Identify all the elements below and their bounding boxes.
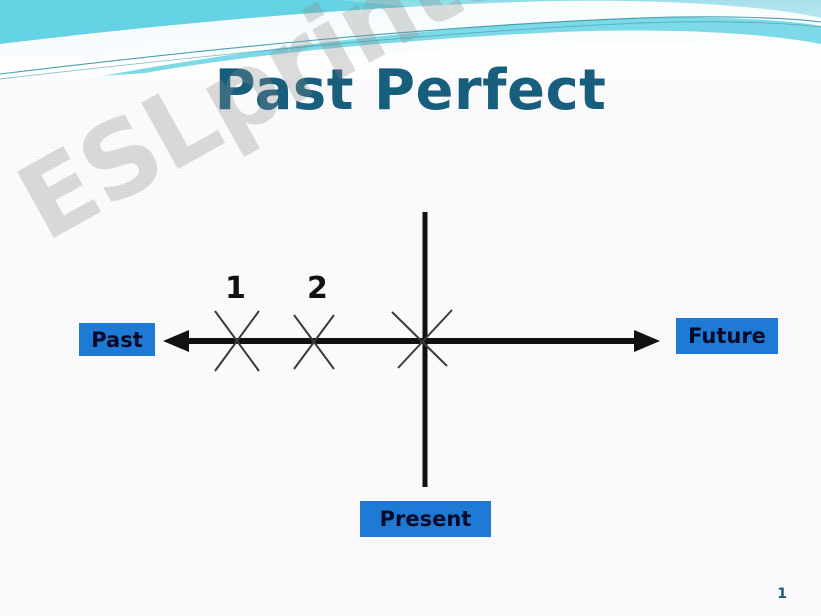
event-number-2: 2: [307, 271, 328, 306]
page-number: 1: [777, 586, 787, 602]
label-box-present: Present: [360, 501, 491, 537]
event-number-1: 1: [225, 271, 246, 306]
slide-canvas: Past Perfect ESLprintables.com 1 2: [0, 0, 821, 616]
arrow-head-right-future: [634, 330, 660, 352]
arrow-head-left-past: [163, 330, 189, 352]
label-box-future: Future: [676, 318, 778, 354]
page-title: Past Perfect: [0, 58, 821, 123]
label-box-past: Past: [79, 323, 155, 356]
